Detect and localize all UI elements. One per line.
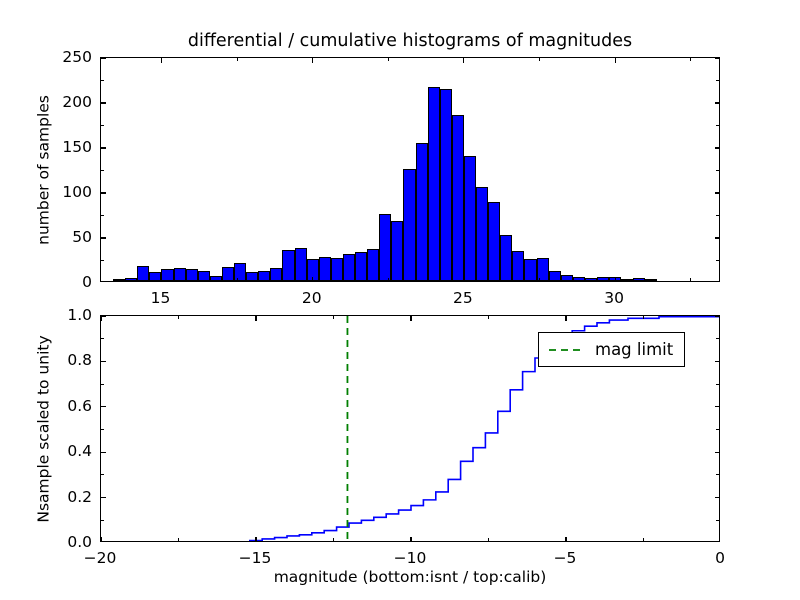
y-tick-mark: [101, 237, 106, 238]
histogram-bar: [512, 251, 524, 281]
y-tick-mark: [715, 452, 720, 453]
x-minor-tick-mark: [539, 58, 540, 61]
bottom-y-axis-label: Nsample scaled to unity: [34, 315, 52, 542]
histogram-bar: [355, 252, 367, 281]
y-minor-tick-mark: [101, 260, 104, 261]
matplotlib-figure: differential / cumulative histograms of …: [0, 0, 800, 600]
y-tick-mark: [715, 147, 720, 148]
x-tick-label: −20: [84, 549, 117, 567]
x-minor-tick-mark: [237, 58, 238, 61]
y-minor-tick-mark: [101, 215, 104, 216]
histogram-bar: [416, 143, 428, 281]
x-minor-tick-mark: [488, 316, 489, 319]
histogram-bar: [198, 271, 210, 281]
histogram-bar: [113, 279, 125, 281]
y-tick-mark: [715, 315, 720, 316]
y-minor-tick-mark: [716, 520, 719, 521]
x-minor-tick-mark: [388, 58, 389, 61]
x-minor-tick-mark: [237, 278, 238, 281]
y-tick-mark: [101, 361, 106, 362]
y-minor-tick-mark: [716, 384, 719, 385]
histogram-bar: [645, 279, 657, 281]
x-tick-mark: [312, 277, 313, 282]
x-minor-tick-mark: [539, 278, 540, 281]
histogram-bar: [597, 277, 609, 282]
y-minor-tick-mark: [716, 260, 719, 261]
x-minor-tick-mark: [178, 316, 179, 319]
x-tick-mark: [161, 58, 162, 63]
x-tick-label: 20: [302, 289, 322, 307]
y-tick-mark: [101, 192, 106, 193]
histogram-bar: [367, 249, 379, 281]
histogram-bar: [452, 115, 464, 281]
histogram-bar: [174, 268, 186, 281]
y-tick-mark: [715, 406, 720, 407]
y-minor-tick-mark: [101, 474, 104, 475]
histogram-bar: [633, 278, 645, 281]
histogram-bar: [270, 268, 282, 282]
histogram-bar: [295, 248, 307, 281]
y-minor-tick-mark: [716, 215, 719, 216]
y-tick-mark: [715, 192, 720, 193]
legend-item-label: mag limit: [595, 340, 673, 359]
y-tick-mark: [101, 497, 106, 498]
x-tick-mark: [100, 316, 101, 321]
bottom-x-axis-label: magnitude (bottom:isnt / top:calib): [100, 568, 720, 586]
top-y-axis-label: number of samples: [34, 57, 52, 282]
y-minor-tick-mark: [101, 80, 104, 81]
histogram-bar: [125, 278, 137, 281]
y-tick-mark: [101, 57, 106, 58]
y-tick-mark: [101, 452, 106, 453]
histogram-bar: [246, 272, 258, 281]
y-tick-mark: [715, 497, 720, 498]
x-tick-label: −15: [239, 549, 272, 567]
x-tick-mark: [463, 58, 464, 63]
histogram-bar: [621, 279, 633, 281]
x-tick-mark: [565, 537, 566, 542]
y-tick-mark: [101, 406, 106, 407]
x-tick-label: 30: [604, 289, 624, 307]
histogram-bar: [476, 187, 488, 281]
histogram-bar: [222, 267, 234, 281]
histogram-bar: [343, 254, 355, 281]
histogram-bar: [440, 89, 452, 281]
bottom-cumulative-axes: mag limit: [100, 315, 720, 542]
histogram-bar: [464, 156, 476, 281]
y-minor-tick-mark: [716, 429, 719, 430]
histogram-bar: [573, 277, 585, 281]
x-tick-label: 15: [151, 289, 171, 307]
y-minor-tick-mark: [101, 429, 104, 430]
y-tick-mark: [715, 237, 720, 238]
x-tick-mark: [161, 277, 162, 282]
histogram-bar: [391, 221, 403, 281]
legend-dashed-line-icon: [548, 344, 582, 356]
histogram-bar: [549, 271, 561, 281]
x-tick-mark: [463, 277, 464, 282]
x-tick-mark: [312, 58, 313, 63]
x-minor-tick-mark: [643, 538, 644, 541]
x-tick-mark: [410, 316, 411, 321]
y-minor-tick-mark: [716, 338, 719, 339]
x-tick-label: 0: [715, 549, 725, 567]
x-minor-tick-mark: [333, 316, 334, 319]
histogram-bar: [282, 250, 294, 282]
y-minor-tick-mark: [716, 80, 719, 81]
x-tick-label: −10: [394, 549, 427, 567]
x-minor-tick-mark: [690, 278, 691, 281]
histogram-bar: [186, 269, 198, 281]
x-minor-tick-mark: [178, 538, 179, 541]
histogram-bar: [331, 258, 343, 281]
histogram-bar: [319, 257, 331, 281]
y-tick-mark: [715, 361, 720, 362]
legend[interactable]: mag limit: [538, 332, 685, 367]
y-minor-tick-mark: [716, 170, 719, 171]
histogram-bar: [161, 269, 173, 281]
histogram-bar: [500, 235, 512, 281]
histogram-bar: [149, 272, 161, 281]
y-minor-tick-mark: [101, 338, 104, 339]
x-minor-tick-mark: [643, 316, 644, 319]
y-tick-mark: [101, 147, 106, 148]
histogram-bar: [524, 259, 536, 281]
x-tick-mark: [565, 316, 566, 321]
y-minor-tick-mark: [716, 125, 719, 126]
histogram-bar: [488, 202, 500, 281]
x-tick-mark: [615, 277, 616, 282]
x-tick-mark: [410, 537, 411, 542]
x-minor-tick-mark: [488, 538, 489, 541]
y-minor-tick-mark: [101, 125, 104, 126]
x-tick-label: 25: [453, 289, 473, 307]
x-tick-mark: [255, 537, 256, 542]
x-minor-tick-mark: [333, 538, 334, 541]
x-tick-mark: [100, 537, 101, 542]
y-tick-mark: [101, 315, 106, 316]
x-minor-tick-mark: [388, 278, 389, 281]
histogram-bar: [585, 278, 597, 281]
histogram-bar: [561, 275, 573, 281]
x-tick-mark: [615, 58, 616, 63]
top-histogram-axes: [100, 57, 720, 282]
x-tick-label: −5: [554, 549, 577, 567]
y-minor-tick-mark: [101, 384, 104, 385]
histogram-bar: [428, 87, 440, 281]
y-tick-mark: [715, 57, 720, 58]
y-tick-mark: [715, 102, 720, 103]
y-minor-tick-mark: [101, 520, 104, 521]
x-tick-mark: [255, 316, 256, 321]
y-minor-tick-mark: [716, 474, 719, 475]
histogram-bar: [403, 169, 415, 281]
y-minor-tick-mark: [101, 170, 104, 171]
histogram-bar: [137, 266, 149, 281]
histogram-bar: [210, 276, 222, 281]
histogram-bar: [258, 271, 270, 281]
histogram-bar: [379, 214, 391, 281]
y-tick-mark: [101, 102, 106, 103]
page-title: differential / cumulative histograms of …: [100, 31, 720, 51]
x-minor-tick-mark: [690, 58, 691, 61]
